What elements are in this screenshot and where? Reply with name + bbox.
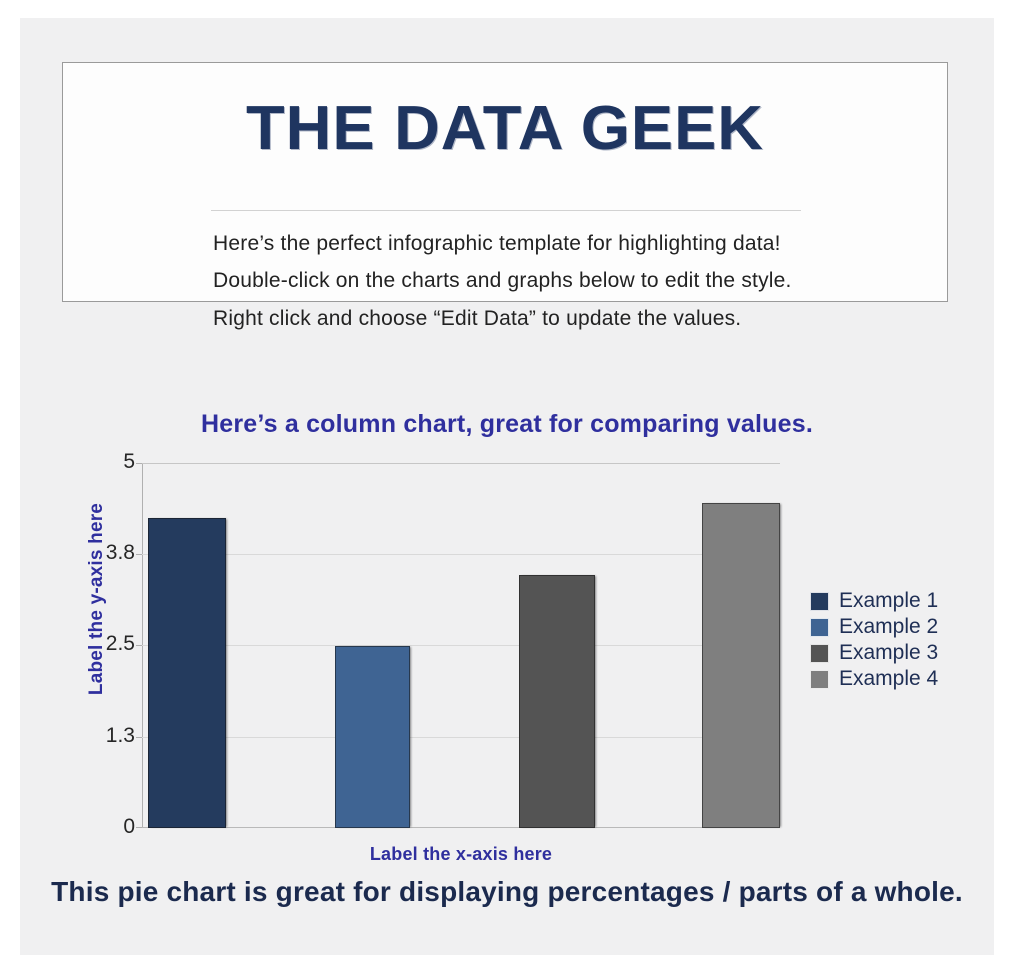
y-axis-title: Label the y-axis here (86, 499, 108, 699)
footer-caption: This pie chart is great for displaying p… (20, 876, 994, 908)
column-chart[interactable]: Here’s a column chart, great for compari… (20, 18, 994, 955)
chart-title: Here’s a column chart, great for compari… (20, 410, 994, 439)
chart-legend[interactable]: Example 1 Example 2 Example 3 Example 4 (810, 588, 938, 692)
legend-swatch-icon (810, 618, 829, 637)
legend-item-example-4[interactable]: Example 4 (810, 666, 938, 692)
x-axis-title: Label the x-axis here (142, 844, 780, 865)
legend-item-example-2[interactable]: Example 2 (810, 614, 938, 640)
gridline-1-3 (142, 737, 780, 738)
legend-swatch-icon (810, 592, 829, 611)
tick-mark-0 (136, 827, 142, 828)
tick-mark-1-3 (136, 737, 142, 738)
legend-label: Example 1 (839, 589, 938, 613)
tick-mark-5 (136, 463, 142, 464)
legend-item-example-1[interactable]: Example 1 (810, 588, 938, 614)
gridline-0 (142, 827, 780, 828)
slide-canvas: THE DATA GEEK Here’s the perfect infogra… (20, 18, 994, 955)
y-tick-label-5: 5 (65, 450, 135, 474)
tick-mark-2-5 (136, 645, 142, 646)
bar-example-2[interactable] (335, 646, 410, 829)
y-tick-label-1-3: 1.3 (65, 724, 135, 748)
gridline-5 (142, 463, 780, 464)
legend-label: Example 4 (839, 667, 938, 691)
bar-example-3[interactable] (519, 575, 595, 828)
plot-area[interactable] (142, 463, 780, 828)
gridline-3-8 (142, 554, 780, 555)
y-tick-label-0: 0 (65, 815, 135, 839)
bar-example-4[interactable] (702, 503, 780, 828)
legend-label: Example 3 (839, 641, 938, 665)
tick-mark-3-8 (136, 554, 142, 555)
legend-item-example-3[interactable]: Example 3 (810, 640, 938, 666)
gridline-2-5 (142, 645, 780, 646)
legend-swatch-icon (810, 670, 829, 689)
legend-label: Example 2 (839, 615, 938, 639)
legend-swatch-icon (810, 644, 829, 663)
bar-example-1[interactable] (148, 518, 226, 828)
